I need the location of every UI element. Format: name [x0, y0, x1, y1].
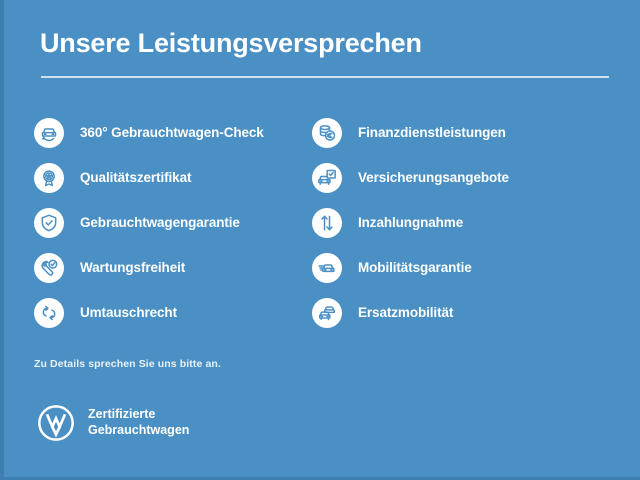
car-360-check-icon	[34, 118, 64, 148]
coins-euro-icon	[312, 118, 342, 148]
promise-label: Qualitätszertifikat	[80, 170, 191, 185]
promise-item-insurance: Versicherungsangebote	[312, 155, 604, 200]
promise-label: 360° Gebrauchtwagen-Check	[80, 125, 264, 140]
footnote-text: Zu Details sprechen Sie uns bitte an.	[34, 358, 221, 370]
two-cars-icon	[312, 298, 342, 328]
award-rosette-icon	[34, 163, 64, 193]
promise-item-mobility-guarantee: Mobilitätsgarantie	[312, 245, 604, 290]
exchange-arrows-icon	[34, 298, 64, 328]
promise-label: Inzahlungnahme	[358, 215, 463, 230]
promise-item-quality-certificate: Qualitätszertifikat	[34, 155, 304, 200]
promise-label: Umtauschrecht	[80, 305, 177, 320]
car-motion-icon	[312, 253, 342, 283]
promise-slide: Unsere Leistungsversprechen 360° Gebrauc…	[0, 0, 640, 480]
promise-item-maintenance-free: Wartungsfreiheit	[34, 245, 304, 290]
page-title: Unsere Leistungsversprechen	[40, 28, 422, 59]
brand-text: Zertifizierte Gebrauchtwagen	[88, 407, 189, 438]
car-document-check-icon	[312, 163, 342, 193]
promise-item-financial-services: Finanzdienstleistungen	[312, 110, 604, 155]
promise-item-return-right: Umtauschrecht	[34, 290, 304, 335]
wrench-check-icon	[34, 253, 64, 283]
promise-label: Gebrauchtwagengarantie	[80, 215, 240, 230]
promise-label: Ersatzmobilität	[358, 305, 453, 320]
promise-item-trade-in: Inzahlungnahme	[312, 200, 604, 245]
promise-item-warranty: Gebrauchtwagengarantie	[34, 200, 304, 245]
brand-line-2: Gebrauchtwagen	[88, 423, 189, 439]
brand-line-1: Zertifizierte	[88, 407, 189, 423]
title-divider	[41, 76, 609, 78]
promise-item-replacement-mobility: Ersatzmobilität	[312, 290, 604, 335]
promise-columns: 360° Gebrauchtwagen-Check Qualitätszerti…	[4, 110, 640, 335]
vw-logo-icon	[36, 403, 76, 443]
promise-column-right: Finanzdienstleistungen Versicheru	[304, 110, 604, 335]
promise-label: Finanzdienstleistungen	[358, 125, 506, 140]
promise-column-left: 360° Gebrauchtwagen-Check Qualitätszerti…	[4, 110, 304, 335]
brand-lockup: Zertifizierte Gebrauchtwagen	[36, 403, 189, 443]
promise-item-360-check: 360° Gebrauchtwagen-Check	[34, 110, 304, 155]
promise-label: Mobilitätsgarantie	[358, 260, 472, 275]
promise-label: Wartungsfreiheit	[80, 260, 185, 275]
promise-label: Versicherungsangebote	[358, 170, 509, 185]
shield-check-icon	[34, 208, 64, 238]
arrows-up-down-icon	[312, 208, 342, 238]
